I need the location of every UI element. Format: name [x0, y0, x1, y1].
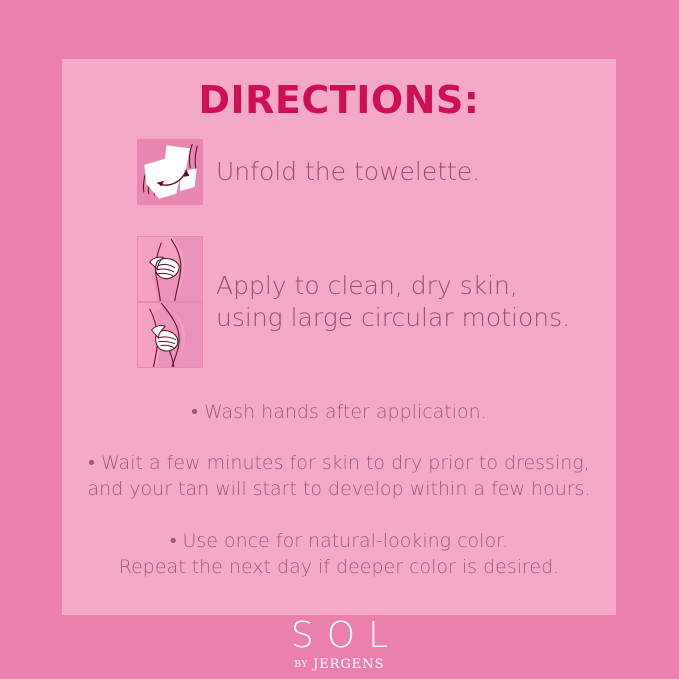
directions-panel: DIRECTIONS:	[62, 59, 616, 615]
page-title: DIRECTIONS:	[62, 81, 616, 119]
bullet-item: • Wait a few minutes for skin to dry pri…	[62, 450, 616, 502]
bullet-item: • Use once for natural-looking color. Re…	[62, 528, 616, 580]
step-row-2: Apply to clean, dry skin, using large ci…	[137, 236, 570, 368]
apply-to-arm-icon	[137, 236, 203, 302]
step-2-icon-stack	[137, 236, 203, 368]
step-1-text: Unfold the towelette.	[216, 156, 480, 188]
step-1-icon-stack	[137, 139, 203, 205]
logo-by-label: BY	[294, 660, 307, 670]
step-2-text: Apply to clean, dry skin, using large ci…	[216, 270, 570, 334]
apply-to-leg-icon	[137, 302, 203, 368]
bullet-list: • Wash hands after application. • Wait a…	[62, 399, 616, 580]
bullet-item: • Wash hands after application.	[62, 399, 616, 425]
logo-wordmark: SOL	[0, 618, 679, 654]
brand-logo: SOL BY JERGENS	[0, 618, 679, 671]
step-row-1: Unfold the towelette.	[137, 139, 480, 205]
logo-subline: BY JERGENS	[0, 658, 679, 671]
logo-brand-name: JERGENS	[313, 657, 385, 672]
unfold-towelette-icon	[137, 139, 203, 205]
